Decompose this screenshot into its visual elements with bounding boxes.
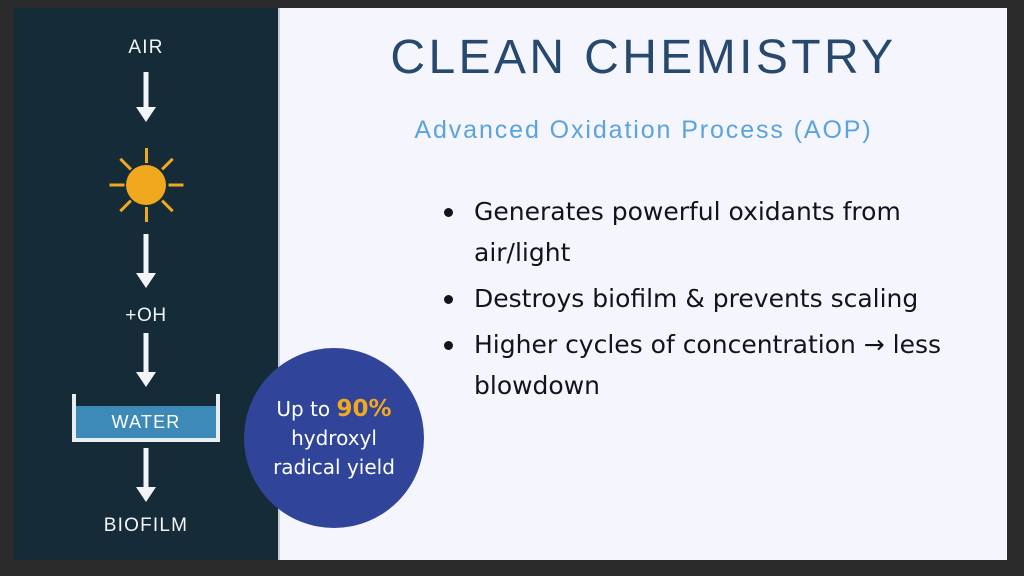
diagram-label-air: AIR [14, 37, 278, 59]
stat-badge-line-2: hydroxyl [291, 424, 377, 453]
diagram-label-biofilm: BIOFILM [14, 515, 278, 537]
stat-badge-value: 90% [337, 396, 392, 422]
arrow-head [136, 372, 156, 387]
down-arrow-icon [135, 72, 157, 122]
arrow-head [136, 107, 156, 122]
down-arrow-icon [135, 234, 157, 288]
arrow-shaft [144, 234, 149, 273]
down-arrow-icon [135, 333, 157, 387]
list-item: Generates powerful oxidants from air/lig… [440, 191, 980, 273]
list-item: Higher cycles of concentration → less bl… [440, 324, 980, 406]
water-vessel-icon: WATER [72, 394, 220, 442]
arrow-head [136, 487, 156, 502]
vessel-bottom [72, 438, 220, 442]
sun-disc [126, 165, 166, 205]
sun-icon [103, 142, 189, 228]
bullet-dot-icon [444, 208, 453, 217]
bullet-dot-icon [444, 295, 453, 304]
slide-canvas: AIR +OH [14, 8, 1007, 560]
list-item-label: Destroys biofilm & prevents scaling [474, 284, 918, 313]
list-item-label: Generates powerful oxidants from air/lig… [474, 197, 901, 267]
arrow-head [136, 273, 156, 288]
bullet-dot-icon [444, 341, 453, 350]
list-item: Destroys biofilm & prevents scaling [440, 278, 980, 319]
stat-badge-prefix: Up to [276, 397, 330, 421]
stat-badge-line-1: Up to 90% [276, 395, 391, 424]
list-item-label: Higher cycles of concentration → less bl… [474, 330, 941, 400]
process-diagram-panel: AIR +OH [14, 8, 280, 560]
vessel-wall-right [216, 394, 220, 442]
arrow-shaft [144, 333, 149, 372]
stat-badge: Up to 90% hydroxyl radical yield [244, 348, 424, 528]
down-arrow-icon [135, 448, 157, 502]
arrow-shaft [144, 448, 149, 487]
page-title: CLEAN CHEMISTRY [280, 30, 1007, 86]
slide-frame: AIR +OH [0, 0, 1024, 576]
diagram-label-hydroxyl: +OH [14, 305, 278, 327]
benefits-list: Generates powerful oxidants from air/lig… [440, 191, 980, 411]
arrow-shaft [144, 72, 149, 107]
stat-badge-line-3: radical yield [273, 453, 395, 482]
vessel-water-fill: WATER [76, 406, 216, 438]
diagram-label-water: WATER [112, 412, 181, 433]
page-subtitle: Advanced Oxidation Process (AOP) [280, 115, 1007, 145]
